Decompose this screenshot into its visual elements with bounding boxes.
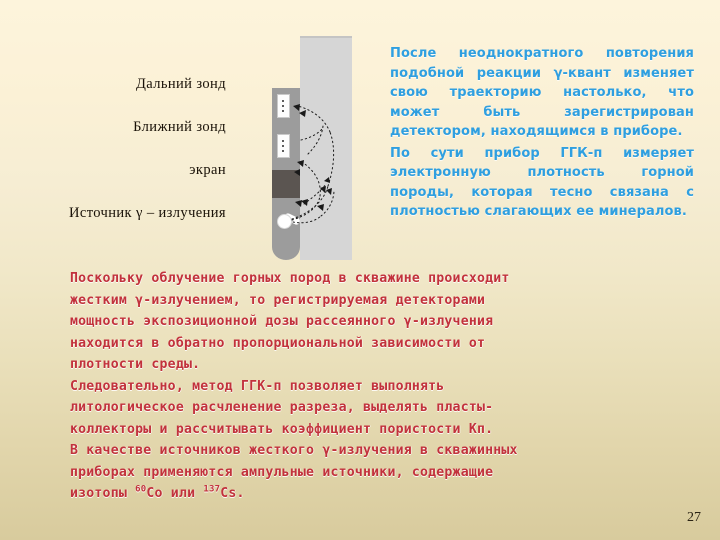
- red-text-block: Поскольку облучение горных пород в скваж…: [70, 268, 630, 505]
- isotope-mass-60: 60: [135, 485, 146, 495]
- red-line-1: Поскольку облучение горных пород в скваж…: [70, 268, 630, 290]
- isotope-prefix: изотопы: [70, 486, 135, 501]
- red-line-6: Следовательно, метод ГГК-п позволяет вып…: [70, 376, 630, 398]
- isotope-cobalt: Co или: [146, 486, 203, 501]
- diagram-label-group: Дальний зонд Ближний зонд экран Источник…: [0, 76, 226, 222]
- red-line-4: находится в обратно пропорциональной зав…: [70, 333, 630, 355]
- isotope-mass-137: 137: [203, 485, 220, 495]
- red-line-3: мощность экспозиционной дозы рассеянного…: [70, 311, 630, 333]
- cyan-paragraph-2: По сути прибор ГГК-п измеряет электронну…: [390, 144, 694, 222]
- red-line-8: коллекторы и рассчитывать коэффициент по…: [70, 419, 630, 441]
- red-line-9: В качестве источников жесткого γ-излучен…: [70, 440, 630, 462]
- cyan-text-block: После неоднократного повторения подобной…: [390, 44, 694, 222]
- slide-canvas: Дальний зонд Ближний зонд экран Источник…: [0, 0, 720, 540]
- page-number: 27: [687, 510, 701, 526]
- diagram-label-gamma-source: Источник γ – излучения: [0, 205, 226, 222]
- diagram-label-far-probe: Дальний зонд: [0, 76, 226, 93]
- red-line-2: жестким γ-излучением, то регистрируемая …: [70, 290, 630, 312]
- red-line-7: литологическое расчленение разреза, выде…: [70, 397, 630, 419]
- red-line-10: приборах применяются ампульные источники…: [70, 462, 630, 484]
- diagram-label-screen: экран: [0, 162, 226, 179]
- diagram-label-near-probe: Ближний зонд: [0, 119, 226, 136]
- cyan-paragraph-1: После неоднократного повторения подобной…: [390, 44, 694, 142]
- logging-tool-diagram: [268, 36, 352, 258]
- gamma-ray-paths: [268, 36, 352, 258]
- red-line-isotopes: изотопы 60Co или 137Cs.: [70, 483, 630, 505]
- red-line-5: плотности среды.: [70, 354, 630, 376]
- isotope-cesium: Cs.: [220, 486, 244, 501]
